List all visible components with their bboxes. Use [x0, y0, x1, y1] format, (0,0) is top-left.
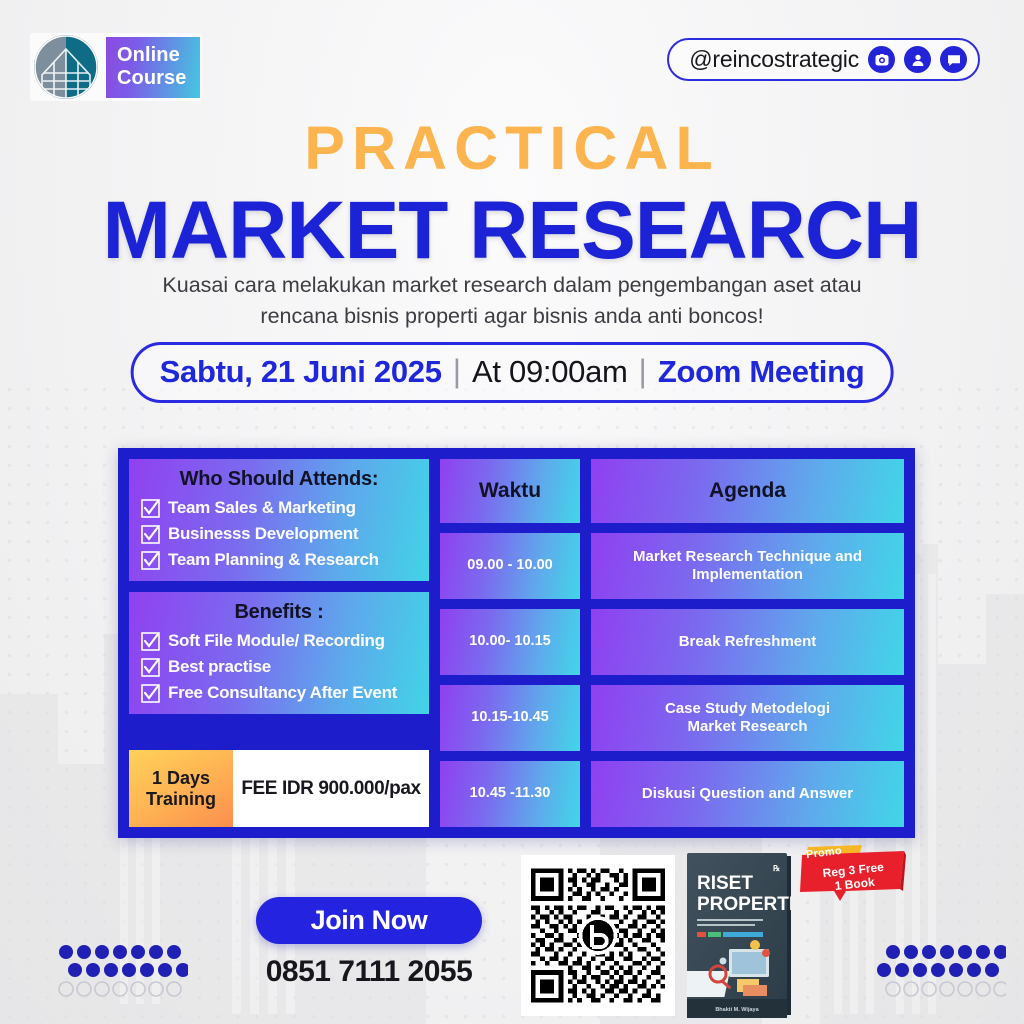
benefits-panel: Benefits : Soft File Module/ Recording B… [129, 592, 429, 714]
logo-line-1: Online [117, 44, 187, 67]
list-item: Team Planning & Research [141, 550, 419, 570]
agenda-line-1: Break Refreshment [679, 633, 817, 651]
decorative-dots-right [876, 944, 1006, 1006]
event-separator-1: | [453, 353, 461, 390]
audience-item-label: Businesss Development [168, 524, 358, 544]
table-cell-agenda: Case Study Metodelogi Market Research [591, 685, 904, 751]
table-cell-time: 10.00- 10.15 [440, 609, 580, 675]
duration-line-2: Training [146, 789, 216, 809]
checkbox-check-icon [141, 658, 160, 677]
logo-wordmark: Online Course [106, 37, 200, 98]
hero-subtitle-line-2: rencana bisnis properti agar bisnis anda… [0, 301, 1024, 332]
list-item: Soft File Module/ Recording [141, 631, 419, 651]
social-handle-text: @reincostrategic [689, 46, 859, 73]
list-item: Best practise [141, 657, 419, 677]
social-handle-pill[interactable]: @reincostrategic [667, 38, 980, 81]
event-details-bar: Sabtu, 21 Juni 2025 | At 09:00am | Zoom … [131, 342, 894, 403]
join-now-button[interactable]: Join Now [256, 897, 482, 944]
benefit-item-label: Free Consultancy After Event [168, 683, 397, 703]
table-cell-agenda: Diskusi Question and Answer [591, 761, 904, 827]
audience-item-label: Team Planning & Research [168, 550, 379, 570]
benefits-heading: Benefits : [139, 601, 419, 624]
brand-logo: Online Course [30, 33, 202, 101]
table-cell-time: 10.15-10.45 [440, 685, 580, 751]
table-cell-agenda: Market Research Technique and Implementa… [591, 533, 904, 599]
logo-line-2: Course [117, 67, 187, 90]
instagram-camera-icon[interactable] [868, 46, 895, 73]
left-column: Who Should Attends: Team Sales & Marketi… [129, 459, 429, 827]
column-header-time: Waktu [440, 459, 580, 523]
column-header-agenda: Agenda [591, 459, 904, 523]
schedule-agenda-column: Agenda Market Research Technique and Imp… [591, 459, 904, 827]
table-cell-time: 10.45 -11.30 [440, 761, 580, 827]
decorative-dots-left [58, 944, 188, 1006]
benefit-item-label: Soft File Module/ Recording [168, 631, 385, 651]
svg-text:RISET: RISET [697, 873, 753, 894]
fee-row: 1 Days Training FEE IDR 900.000/pax [129, 750, 429, 827]
fee-amount: FEE IDR 900.000/pax [233, 750, 429, 827]
checkbox-check-icon [141, 684, 160, 703]
list-item: Team Sales & Marketing [141, 498, 419, 518]
info-board: Who Should Attends: Team Sales & Marketi… [118, 448, 915, 838]
promo-ribbon: Promo Reg 3 Free 1 Book [800, 845, 906, 907]
event-time: At 09:00am [472, 354, 628, 390]
agenda-line-1: Diskusi Question and Answer [642, 785, 853, 803]
svg-text:Bhakti M. Wijaya: Bhakti M. Wijaya [715, 1007, 759, 1013]
checkbox-check-icon [141, 499, 160, 518]
audience-item-label: Team Sales & Marketing [168, 498, 356, 518]
list-item: Free Consultancy After Event [141, 683, 419, 703]
building-circle-icon [34, 35, 98, 99]
qr-code[interactable] [521, 855, 675, 1016]
page-title: MARKET RESEARCH [0, 189, 1024, 273]
checkbox-check-icon [141, 632, 160, 651]
hero-subtitle-line-1: Kuasai cara melakukan market research da… [0, 270, 1024, 301]
audience-panel: Who Should Attends: Team Sales & Marketi… [129, 459, 429, 581]
event-platform: Zoom Meeting [658, 354, 865, 390]
agenda-line-1: Market Research Technique and [633, 548, 862, 566]
agenda-line-2: Implementation [633, 566, 862, 584]
benefit-item-label: Best practise [168, 657, 271, 677]
agenda-line-1: Case Study Metodelogi [665, 700, 830, 718]
svg-text:PROPERTI: PROPERTI [697, 894, 791, 915]
checkbox-check-icon [141, 525, 160, 544]
contact-phone-number: 0851 7111 2055 [256, 955, 482, 989]
event-separator-2: | [639, 353, 647, 390]
hero-title-block: PRACTICAL MARKET RESEARCH [0, 118, 1024, 273]
checkbox-check-icon [141, 551, 160, 570]
hero-eyebrow: PRACTICAL [0, 118, 1024, 179]
book-cover-riset-properti: RISET PROPERTI Bhakti M. Wijaya ℞ [687, 853, 791, 1020]
event-date: Sabtu, 21 Juni 2025 [160, 354, 442, 390]
schedule-time-column: Waktu 09.00 - 10.00 10.00- 10.15 10.15-1… [440, 459, 580, 827]
duration-line-1: 1 Days [146, 768, 216, 788]
person-profile-icon[interactable] [904, 46, 931, 73]
training-duration-badge: 1 Days Training [129, 750, 233, 827]
table-cell-time: 09.00 - 10.00 [440, 533, 580, 599]
svg-text:℞: ℞ [773, 864, 780, 873]
chat-bubble-icon[interactable] [940, 46, 967, 73]
table-cell-agenda: Break Refreshment [591, 609, 904, 675]
agenda-line-2: Market Research [665, 718, 830, 736]
list-item: Businesss Development [141, 524, 419, 544]
audience-heading: Who Should Attends: [139, 468, 419, 491]
hero-subtitle: Kuasai cara melakukan market research da… [0, 270, 1024, 331]
